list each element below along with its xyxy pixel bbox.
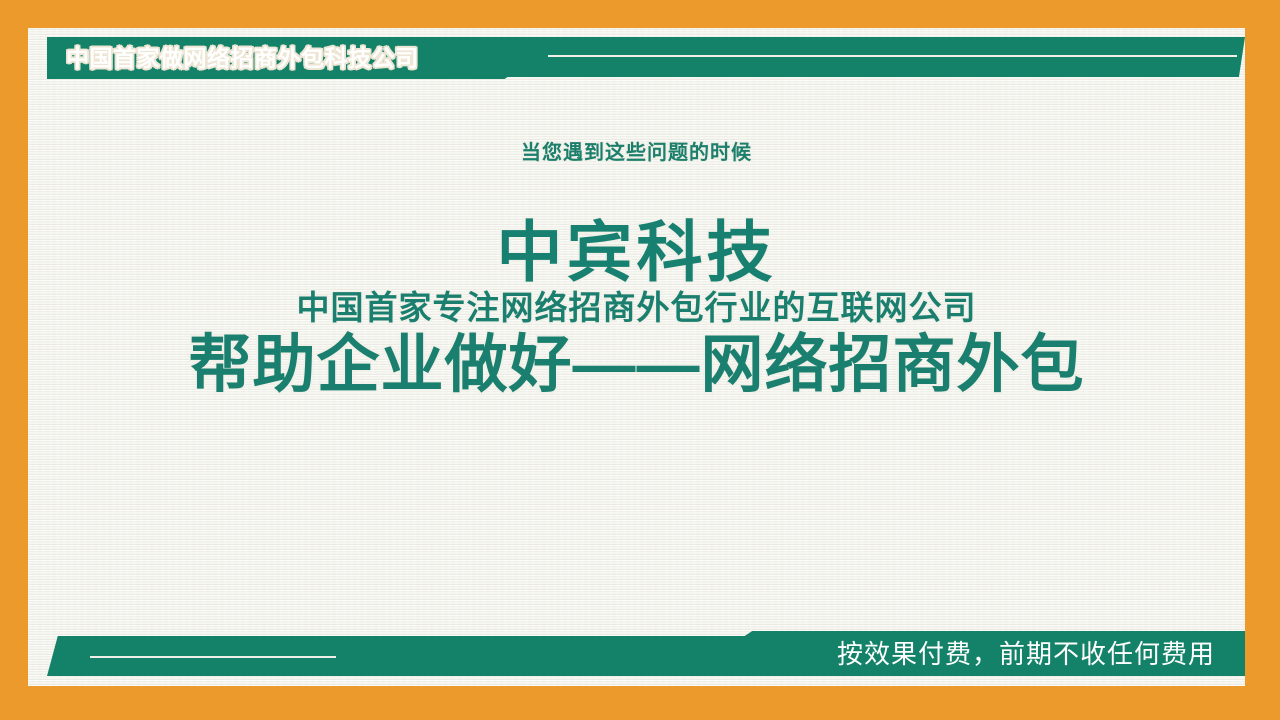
- content-tagline: 中国首家专注网络招商外包行业的互联网公司: [28, 291, 1245, 324]
- slide-paper-panel: 中国首家做网络招商外包科技公司 当您遇到这些问题的时候 中宾科技 中国首家专注网…: [28, 28, 1245, 686]
- content-headline: 帮助企业做好——网络招商外包: [28, 330, 1245, 401]
- content-brand-name: 中宾科技: [28, 219, 1245, 285]
- footer-text-block: 按效果付费，前期不收任何费用: [685, 631, 1245, 676]
- header-accent-bar: [488, 37, 1245, 77]
- content-eyebrow: 当您遇到这些问题的时候: [28, 143, 1245, 163]
- footer-accent-hairline: [90, 656, 336, 658]
- slide-footer: 按效果付费，前期不收任何费用: [28, 624, 1245, 686]
- header-title-block: 中国首家做网络招商外包科技公司: [47, 37, 567, 79]
- slide-root: 中国首家做网络招商外包科技公司 当您遇到这些问题的时候 中宾科技 中国首家专注网…: [0, 0, 1280, 720]
- slide-content: 当您遇到这些问题的时候 中宾科技 中国首家专注网络招商外包行业的互联网公司 帮助…: [28, 143, 1245, 401]
- header-title: 中国首家做网络招商外包科技公司: [66, 47, 419, 70]
- slide-header: 中国首家做网络招商外包科技公司: [28, 28, 1245, 88]
- header-accent-hairline: [548, 55, 1237, 57]
- footer-text: 按效果付费，前期不收任何费用: [837, 641, 1215, 667]
